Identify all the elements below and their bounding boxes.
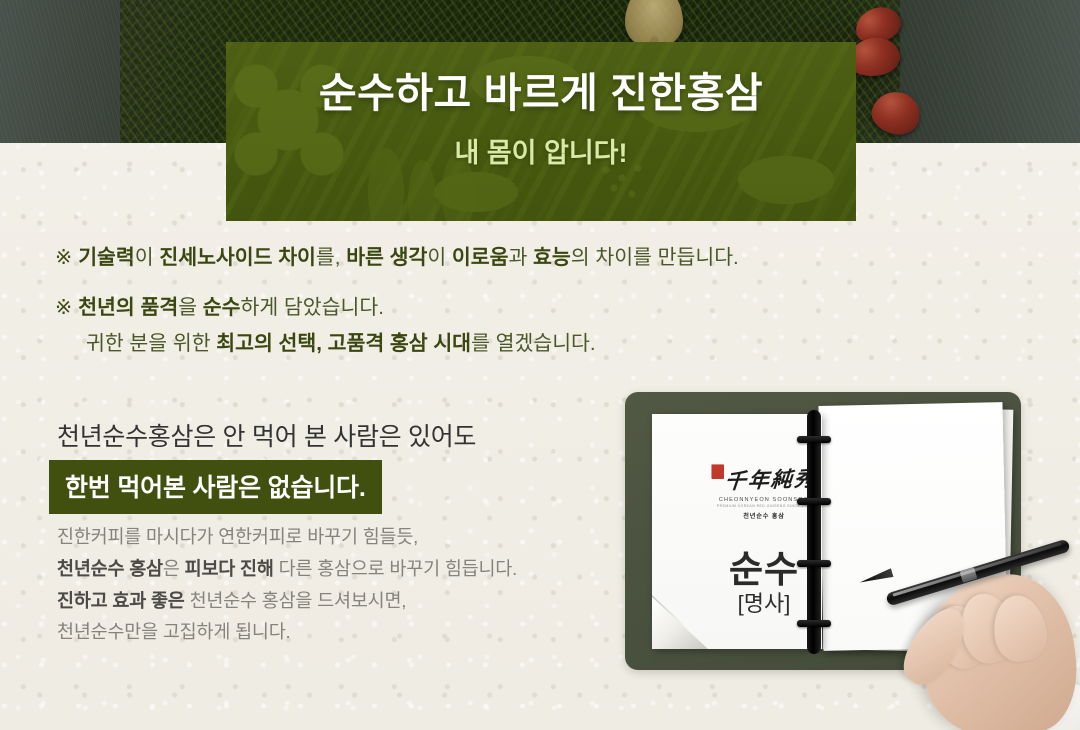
bullet-item: 귀한 분을 위한 최고의 선택, 고품격 홍삼 시대를 열겠습니다. [55, 329, 955, 360]
highlight-banner: 한번 먹어본 사람은 없습니다. [49, 460, 382, 514]
text-run: 기술력 [78, 246, 135, 269]
text-run: 귀한 분을 위한 [86, 332, 216, 355]
text-run: 이 [135, 246, 160, 269]
text-run: 를 열겠습니다. [471, 332, 596, 355]
binding-ring-icon [797, 498, 831, 505]
bullet-marker: ※ [55, 296, 72, 319]
text-run: 바른 생각 [346, 246, 427, 269]
text-run: 하게 담았습니다. [240, 296, 383, 319]
paragraph-line: 진한커피를 마시다가 연한커피로 바꾸기 힘들듯, [57, 521, 517, 553]
text-run: 진한커피를 마시다가 연한커피로 바꾸기 힘들듯, [57, 526, 418, 547]
headline-banner: 순수하고 바르게 진한홍삼 내 몸이 압니다! [226, 42, 856, 221]
text-run: 효능 [533, 246, 571, 269]
text-run: 이로움 [452, 246, 509, 269]
text-run: 최고의 선택, 고품격 홍삼 시대 [216, 332, 471, 355]
bullet-item: ※기술력이 진세노사이드 차이를, 바른 생각이 이로움과 효능의 차이를 만듭… [55, 243, 955, 274]
bullet-spacer [55, 279, 955, 293]
paragraph-line: 천년순수 홍삼은 피보다 진해 다른 홍삼으로 바꾸기 힘듭니다. [57, 553, 517, 585]
text-run: 순수 [203, 296, 241, 319]
paragraph-line: 진하고 효과 좋은 천년순수 홍삼을 드셔보시면, [57, 585, 517, 617]
text-run: 을 [178, 296, 203, 319]
text-run: 천년순수만을 고집하게 됩니다. [57, 621, 290, 642]
text-run: 피보다 진해 [185, 558, 274, 579]
bullet-item: ※천년의 품격을 순수하게 담았습니다. [55, 293, 955, 324]
text-run: 과 [508, 246, 533, 269]
paragraph-line: 천년순수만을 고집하게 됩니다. [57, 616, 517, 648]
text-run: 다른 홍삼으로 바꾸기 힘듭니다. [274, 558, 517, 579]
ginseng-root-image [625, 0, 683, 48]
bullet-marker: ※ [55, 246, 72, 269]
bullet-list: ※기술력이 진세노사이드 차이를, 바른 생각이 이로움과 효능의 차이를 만듭… [55, 243, 955, 364]
logo-hanja: 千年純秀 [724, 462, 819, 495]
text-run: 천년의 품격 [78, 296, 178, 319]
binding-ring-icon [797, 436, 831, 443]
stone-right [900, 0, 1080, 143]
banner-title: 순수하고 바르게 진한홍삼 [226, 68, 856, 119]
text-run: 은 [163, 558, 185, 579]
text-run: 천년순수 홍삼을 드셔보시면, [185, 590, 407, 611]
banner-subtitle: 내 몸이 압니다! [226, 131, 856, 170]
body-paragraph: 진한커피를 마시다가 연한커피로 바꾸기 힘들듯,천년순수 홍삼은 피보다 진해… [57, 521, 517, 648]
lead-line: 천년순수홍삼은 안 먹어 본 사람은 있어도 [57, 417, 476, 453]
promo-page: 순수하고 바르게 진한홍삼 내 몸이 압니다! ※기술력이 진세노사이드 차이를… [0, 0, 1080, 730]
spiral-binding [807, 410, 821, 654]
binding-ring-icon [797, 560, 831, 567]
text-run: 천년순수 홍삼 [57, 558, 163, 579]
hand-with-pen-photo [905, 548, 1080, 730]
stone-left [0, 0, 120, 143]
text-run: 를, [316, 246, 346, 269]
text-run: 이 [427, 246, 452, 269]
text-run: 진세노사이드 차이 [159, 246, 316, 269]
red-seal-icon [711, 464, 724, 479]
text-run: 의 차이를 만듭니다. [571, 246, 739, 269]
text-run: 진하고 효과 좋은 [57, 590, 185, 611]
notebook-page-left: 千年純秀 CHEONNYEON SOONSOO PREMIUM KOREAN R… [652, 414, 822, 649]
binding-ring-icon [797, 620, 831, 627]
